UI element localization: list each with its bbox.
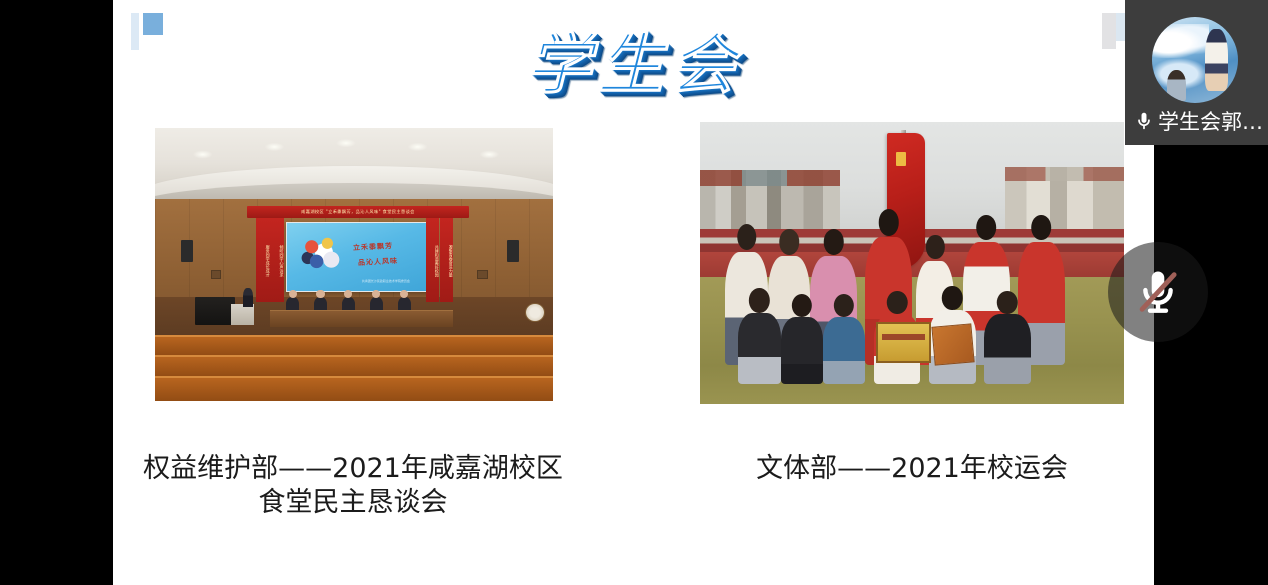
screen-graphic <box>297 233 346 277</box>
vertical-banner-4: 凝聚青春奋进力量 <box>440 218 453 302</box>
wall-vent <box>477 270 488 279</box>
screen-slogan-line1: 立禾黍飘芳 <box>353 241 393 253</box>
video-conference-window: 学生会 咸嘉湖校区 "立禾黍飘芳，品沁人风味" 食堂民主恳谈会 立禾黍飘芳 品沁… <box>0 0 1268 585</box>
certificate <box>932 323 975 365</box>
student-front-row <box>823 294 865 384</box>
background-buildings-left <box>700 170 840 232</box>
sports-meet-group-photo <box>700 122 1124 404</box>
microphone-icon <box>1133 108 1155 134</box>
student-front-row <box>738 288 780 384</box>
vertical-banner-1: 服务同学成长成才 <box>256 218 269 302</box>
shared-screen-slide: 学生会 咸嘉湖校区 "立禾黍飘芳，品沁人风味" 食堂民主恳谈会 立禾黍飘芳 品沁… <box>113 0 1154 585</box>
wall-speaker <box>181 240 193 262</box>
vertical-banner-3: 共建和谐美好校园 <box>426 218 439 302</box>
screen-footnote: 共青团长沙民政职业技术学院委员会 <box>362 279 410 283</box>
audience-seat-row <box>155 376 553 401</box>
screen-slogan-line2: 品沁人风味 <box>357 256 397 268</box>
stage-banner: 咸嘉湖校区 "立禾黍飘芳，品沁人风味" 食堂民主恳谈会 <box>247 206 470 218</box>
award-plaque <box>876 322 931 363</box>
microphone-muted-button[interactable] <box>1108 242 1208 342</box>
sports-field-scene <box>700 122 1124 404</box>
microphone-muted-icon <box>1130 264 1186 320</box>
student-front-row <box>984 291 1031 384</box>
caption-left: 权益维护部——2021年咸嘉湖校区食堂民主恳谈会 <box>133 452 573 520</box>
avatar <box>1152 17 1238 103</box>
wall-speaker <box>507 240 519 262</box>
participant-tile[interactable]: 学生会郭… <box>1125 0 1268 145</box>
projection-screen: 立禾黍飘芳 品沁人风味 共青团长沙民政职业技术学院委员会 <box>286 222 431 292</box>
auditorium-scene: 咸嘉湖校区 "立禾黍飘芳，品沁人风味" 食堂民主恳谈会 立禾黍飘芳 品沁人风味 … <box>155 128 553 401</box>
auditorium-meeting-photo: 咸嘉湖校区 "立禾黍飘芳，品沁人风味" 食堂民主恳谈会 立禾黍飘芳 品沁人风味 … <box>155 128 553 401</box>
speaker-person <box>243 288 253 307</box>
student-front-row <box>781 294 823 384</box>
wall-vent <box>211 270 222 279</box>
caption-right: 文体部——2021年校运会 <box>673 452 1151 486</box>
participant-name-row: 学生会郭… <box>1133 104 1268 138</box>
participant-name: 学生会郭… <box>1158 106 1263 136</box>
page-title: 学生会 <box>113 26 1154 104</box>
vertical-banner-2: 倾听同学心声诉求 <box>270 218 283 302</box>
